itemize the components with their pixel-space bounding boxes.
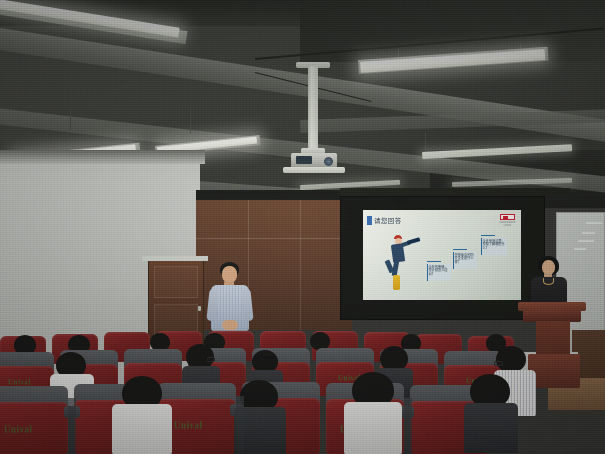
- projector-lens: [324, 157, 333, 166]
- corporate-logo-text: CORPORATE LOGO: [498, 221, 517, 227]
- light-hanger-4: [190, 108, 191, 134]
- corporate-logo-icon: [500, 214, 515, 220]
- audience-shirt: [112, 404, 172, 454]
- lecture-hall-photo: 请您回答 CORPORATE LOGO 今年的策略，您计划怎么应对？ 您想象中的…: [0, 0, 605, 454]
- callout-3-text: 今天来到这里，您想了解哪些什么？: [483, 240, 507, 252]
- presenter-hands: [222, 320, 238, 330]
- whiteboard-mark-4: [574, 248, 586, 250]
- presenter-arm-right: [240, 289, 253, 322]
- podium-speaker-necklace: [543, 278, 554, 285]
- door-panel-upper: [154, 266, 198, 298]
- seat-gap: [404, 398, 412, 454]
- telescope-icon: [407, 237, 420, 244]
- front-wall-header-band: [196, 190, 356, 200]
- whiteboard-mark-2: [582, 232, 595, 234]
- projector-base-tray: [283, 167, 345, 173]
- slide-accent-bar: [367, 216, 372, 225]
- slide-logo: CORPORATE LOGO: [498, 214, 517, 226]
- projector-vent: [296, 156, 312, 164]
- callout-1-tick: [427, 261, 441, 262]
- door-handle[interactable]: [198, 306, 201, 311]
- seat-gap: [68, 398, 76, 454]
- seat-logo-text: Unival: [174, 419, 203, 431]
- light-hanger-5: [425, 132, 426, 150]
- projector-mount-pole: [308, 66, 318, 150]
- toon-pedestal: [393, 275, 400, 290]
- callout-1-text: 今年的策略，您计划怎么应对？: [429, 266, 451, 278]
- audience-shirt: [464, 403, 518, 453]
- callout-2-tick: [453, 249, 467, 250]
- whiteboard-mark-3: [578, 240, 594, 242]
- audience-shirt: [344, 402, 402, 454]
- lectern-column: [536, 321, 570, 357]
- audience-glasses: [207, 357, 215, 362]
- left-wall-top-shadow: [0, 150, 205, 164]
- audience-head: [496, 346, 526, 372]
- man-with-telescope-illustration: [385, 235, 429, 293]
- audience-glasses: [494, 361, 503, 366]
- light-hanger-3: [70, 108, 71, 130]
- seat-gap: [236, 396, 244, 454]
- callout-3-tick: [481, 235, 495, 236]
- projected-slide: 请您回答 CORPORATE LOGO 今年的策略，您计划怎么应对？ 您想象中的…: [363, 210, 521, 300]
- seat-logo-text: Unival: [4, 423, 33, 435]
- wood-panel-seam-h: [196, 238, 352, 239]
- callout-2-text: 您想象中的同业企业是什么样？: [455, 254, 477, 266]
- wood-panel-seam-v-2: [300, 200, 301, 330]
- whiteboard-mark-1: [586, 222, 602, 224]
- door-frame-top: [142, 256, 208, 261]
- slide-title: 请您回答: [374, 215, 402, 225]
